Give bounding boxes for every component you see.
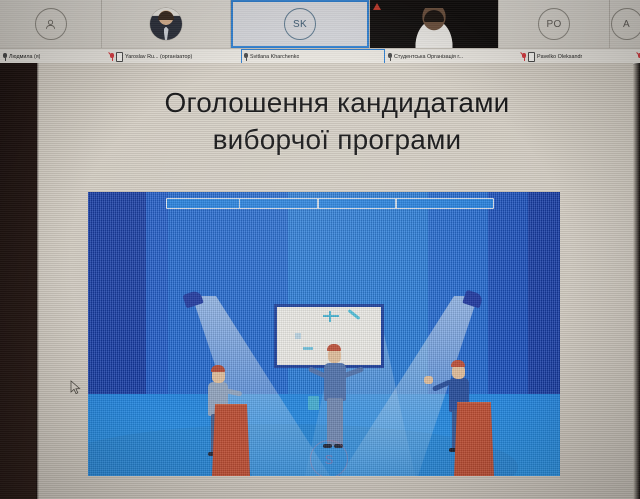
mouse-cursor [70,380,81,395]
slide-title-line-1: Оголошення кандидатами [87,85,587,122]
avatar-initials: SK [284,8,316,40]
participant-tile-student-org[interactable] [370,0,499,48]
shared-slide: Оголошення кандидатами виборчої програми [37,63,633,499]
participant-tile-alex[interactable]: A [610,0,640,48]
hair [327,344,341,351]
avatar-initials: PO [538,8,570,40]
alert-icon [373,3,381,10]
phone-icon [528,52,535,62]
avatar [35,8,67,40]
microphone-icon[interactable] [388,53,392,61]
legs [327,398,343,446]
debate-stage-illustration: S [88,192,560,476]
participant-label-svitlana[interactable]: Svitlana Kharchenko [241,49,385,64]
participant-label-alex[interactable]: Alex [635,49,640,64]
participant-name: Студентська Організація г... [394,54,463,60]
participant-label-pavelko[interactable]: Pavelko Oleksandr [519,49,635,64]
phone-icon [116,52,123,62]
screen-graphic-bar [329,311,331,322]
person-silhouette-icon [43,17,58,32]
photo-right-dark-edge [633,63,640,499]
stage-light-rail [166,198,494,209]
illustration-watermark: S [310,440,348,476]
microphone-muted-icon[interactable] [110,53,114,61]
screen-graphic-square [295,333,301,339]
participant-name: Yaroslav Ru... (організатор) [125,54,192,60]
slide-title: Оголошення кандидатами виборчої програми [87,85,587,159]
microphone-muted-icon[interactable] [522,53,526,61]
torso [324,363,346,401]
participant-tile-svitlana[interactable]: SK [231,0,370,48]
participant-label-student-org[interactable]: Студентська Організація г... [385,49,519,64]
cursor-arrow-icon [70,380,81,395]
hair [451,360,465,367]
monitor-screen: SK PO A Людмила (я) Yaroslav Ru... (орга… [0,0,640,499]
microphone-icon[interactable] [244,53,248,61]
arm [226,388,243,396]
podium-right [454,402,494,476]
avatar-initials: A [611,8,640,40]
photo-left-dark-edge [0,63,37,499]
tablet [308,396,319,410]
participant-name: Pavelko Oleksandr [537,54,582,60]
screen-graphic-arrow [348,309,361,320]
participant-label-lyudmyla[interactable]: Людмила (я) [0,49,107,64]
participant-label-yaroslav[interactable]: Yaroslav Ru... (організатор) [107,49,241,64]
participant-tile-pavelko[interactable]: PO [499,0,610,48]
podium-left [212,404,250,476]
avatar-photo [150,8,182,40]
slide-title-line-2: виборчої програми [87,122,587,159]
hand [424,376,433,384]
participant-tile-lyudmyla[interactable] [0,0,102,48]
participant-name: Svitlana Kharchenko [250,54,299,60]
participant-tile-yaroslav[interactable] [102,0,231,48]
microphone-icon[interactable] [3,53,7,61]
webcam-video [407,8,461,48]
hair [211,365,225,372]
participant-name: Людмила (я) [9,54,40,60]
participant-filmstrip: SK PO A [0,0,640,48]
